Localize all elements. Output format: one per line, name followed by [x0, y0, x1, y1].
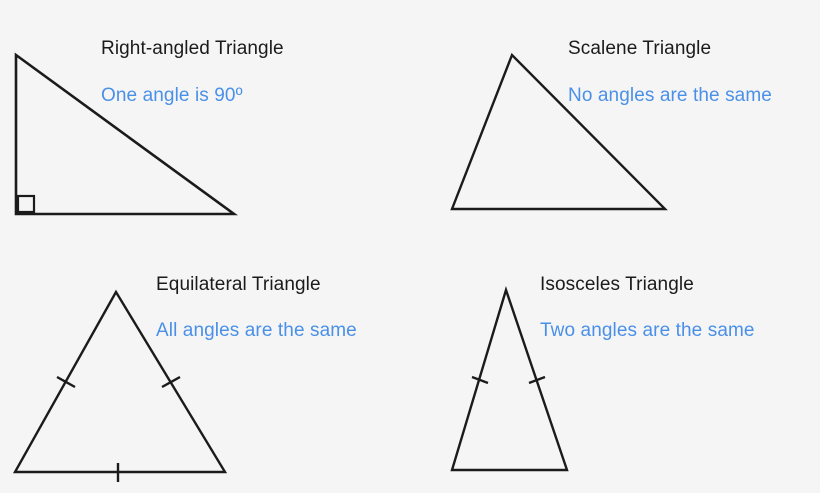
right-angled-triangle-title: Right-angled Triangle — [101, 38, 284, 60]
equilateral-tick-left-icon — [57, 377, 75, 387]
isosceles-triangle-title: Isosceles Triangle — [540, 274, 694, 296]
diagram-canvas: Right-angled Triangle One angle is 90º S… — [0, 0, 820, 493]
scalene-triangle-title: Scalene Triangle — [568, 38, 711, 60]
equilateral-triangle-title: Equilateral Triangle — [156, 274, 321, 296]
equilateral-triangle-description: All angles are the same — [156, 320, 357, 342]
equilateral-tick-right-icon — [162, 377, 180, 387]
equilateral-triangle-outline — [15, 292, 225, 472]
isosceles-triangle-shape — [452, 290, 567, 470]
right-angled-triangle-description: One angle is 90º — [101, 85, 243, 107]
right-angle-square-icon — [18, 196, 34, 212]
scalene-triangle-shape — [452, 55, 665, 209]
right-angled-triangle-shape — [16, 55, 234, 214]
isosceles-triangle-outline — [452, 290, 567, 470]
scalene-triangle-outline — [452, 55, 665, 209]
isosceles-triangle-description: Two angles are the same — [540, 320, 755, 342]
right-angled-triangle-outline — [16, 55, 234, 214]
scalene-triangle-description: No angles are the same — [568, 85, 772, 107]
triangles-figure — [0, 0, 820, 493]
